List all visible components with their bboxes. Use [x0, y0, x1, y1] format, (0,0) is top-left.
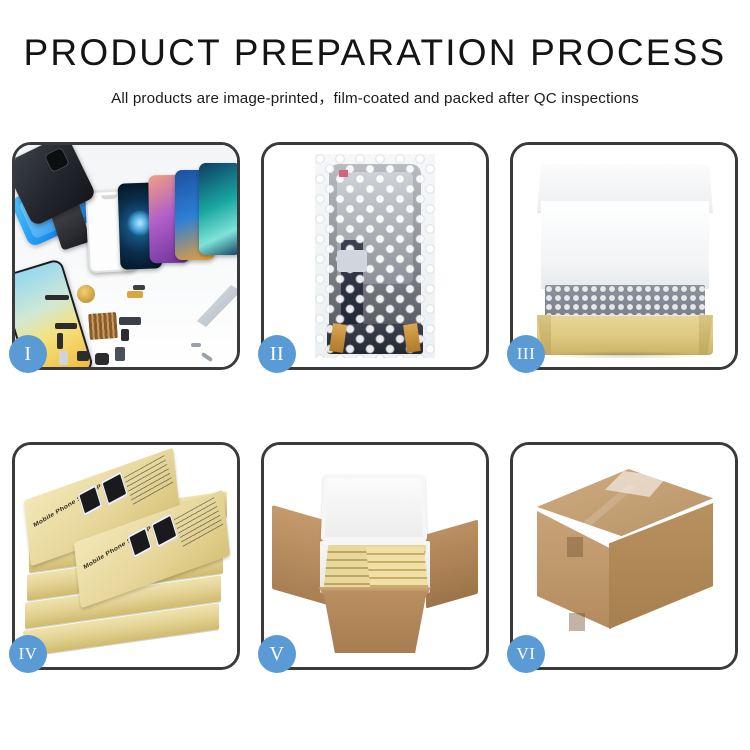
box-shadow	[543, 351, 707, 359]
speaker-coil-icon	[77, 285, 95, 303]
teal-swirl-phone-icon	[199, 163, 237, 255]
bubble-wrapped-lcd-photo	[315, 154, 435, 358]
part-icon	[59, 351, 68, 365]
panel-5-image	[264, 445, 486, 667]
tweezers-icon	[195, 285, 237, 327]
chip-array-icon	[88, 312, 118, 340]
phones-and-parts-photo	[15, 145, 237, 367]
lcd-red-sticker-icon	[339, 170, 348, 177]
process-step-panel-4[interactable]: Mobile Phone Spare Parts Mobile Phone Sp…	[12, 442, 240, 670]
foam-sheet-icon	[541, 201, 709, 289]
step-badge-2: II	[258, 335, 296, 373]
panel-4-image: Mobile Phone Spare Parts Mobile Phone Sp…	[15, 445, 237, 667]
panel-1-image	[15, 145, 237, 367]
panel-2-image	[264, 145, 486, 367]
carton-left-face-icon	[537, 511, 611, 629]
screw-icon	[201, 352, 213, 362]
carton-flap-right-icon	[426, 520, 478, 609]
part-icon	[133, 285, 145, 290]
carton-handle-tab-icon	[569, 613, 585, 631]
packed-gold-boxes-icon	[366, 547, 428, 587]
process-step-panel-6[interactable]: VI	[510, 442, 738, 670]
carton-handle-tab-icon	[567, 537, 583, 557]
part-icon	[45, 295, 69, 300]
box-spec-lines	[124, 455, 174, 506]
part-icon	[119, 317, 141, 325]
stacked-boxes-photo: Mobile Phone Spare Parts Mobile Phone Sp…	[21, 467, 233, 657]
part-icon	[55, 323, 77, 329]
page-subtitle: All products are image-printed，film-coat…	[0, 86, 750, 108]
panel-3-image	[513, 145, 735, 367]
process-step-panel-1[interactable]: I	[12, 142, 240, 370]
process-step-panel-3[interactable]: III	[510, 142, 738, 370]
part-icon	[77, 351, 89, 361]
part-icon	[115, 347, 125, 361]
box-spec-lines	[174, 497, 224, 548]
foam-lid-icon	[321, 475, 428, 542]
gold-box-front-icon	[537, 315, 713, 355]
part-icon	[121, 329, 129, 341]
step-badge-4: IV	[9, 635, 47, 673]
part-icon	[57, 333, 63, 349]
step-badge-6: VI	[507, 635, 545, 673]
part-icon	[95, 353, 109, 365]
process-step-panel-5[interactable]: V	[261, 442, 489, 670]
step-badge-5: V	[258, 635, 296, 673]
carton-body-icon	[316, 591, 434, 653]
flex-cable-icon	[127, 291, 143, 298]
page-header: PRODUCT PREPARATION PROCESS All products…	[0, 0, 750, 108]
step-badge-1: I	[9, 335, 47, 373]
lcd-connector-icon	[337, 250, 367, 272]
process-step-panel-2[interactable]: II	[261, 142, 489, 370]
step-badge-3: III	[507, 335, 545, 373]
panel-6-image	[513, 445, 735, 667]
process-step-grid: I II III	[12, 142, 738, 670]
page-title: PRODUCT PREPARATION PROCESS	[0, 34, 750, 71]
screw-icon	[191, 343, 201, 347]
